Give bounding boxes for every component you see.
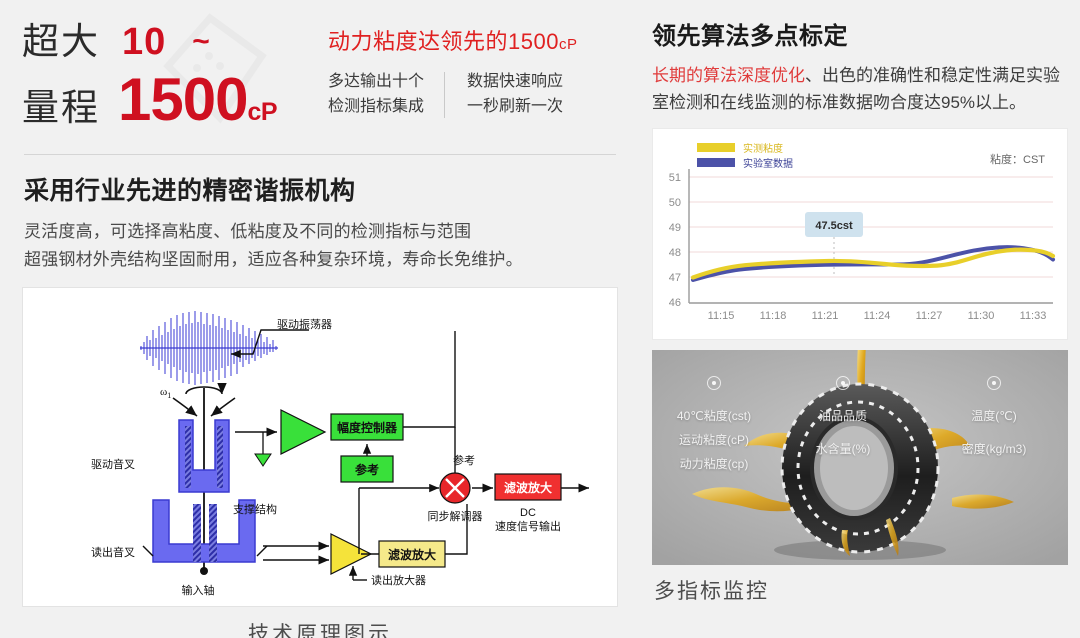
hero-banner: 超大 10 ~ 量程 1500 cP 动力粘度达领先的1500cP [0,0,640,148]
xtick-4: 11:27 [916,310,943,322]
drive-amplifier-icon [281,410,325,454]
dc-label-line1: DC [520,507,536,519]
xtick-6: 11:33 [1020,310,1047,322]
drive-fork-label: 驱动音叉 [91,457,135,471]
hero-headline-unit: cP [559,36,578,53]
waveform-bars [140,311,278,385]
hero-headline-main: 动力粘度达领先的1500 [328,29,559,54]
xtick-2: 11:21 [812,310,839,322]
xtick-0: 11:15 [708,310,735,322]
metric-col1-item2: 动力粘度(cp) [654,452,774,476]
filter-amplifier-red-label: 滤波放大 [504,480,552,495]
metric-col1-item1: 运动粘度(cP) [654,428,774,452]
sync-demodulator-label: 同步解调器 [428,509,483,523]
hero-range-to: 1500 [118,70,247,130]
hero-range-tilde: ~ [192,25,210,59]
page-root: 超大 10 ~ 量程 1500 cP 动力粘度达领先的1500cP [0,0,1080,638]
legend-label-lab: 实验室数据 [743,157,793,170]
hero-feature-2-line2: 一秒刷新一次 [467,95,563,120]
readout-amp-pointer [353,566,367,580]
left-section-body-line2: 超强钢材外壳结构坚固耐用，适应各种复杂环境，寿命长免维护。 [24,246,616,274]
gear-photo-card: 40℃粘度(cst) 运动粘度(cP) 动力粘度(cp) 油品品质 水含量(%)… [652,350,1068,565]
right-body-highlight: 长期的算法深度优化 [652,66,805,85]
right-section-title: 领先算法多点标定 [652,16,1060,51]
sync-demodulator-icon [440,473,470,503]
xtick-5: 11:30 [968,310,995,322]
xtick-3: 11:24 [864,310,891,322]
viscosity-line-chart[interactable]: 51 50 49 48 47 46 11:15 11:18 11:21 11:2… [653,129,1068,340]
chart-y-tick-labels: 51 50 49 48 47 46 [669,172,681,309]
hero-highlight-block: 动力粘度达领先的1500cP 多达输出十个 检测指标集成 数据快速响应 一秒刷新… [312,14,577,120]
input-shaft-label: 输入轴 [182,583,215,597]
support-structure-label-2: 支撑结构 [233,502,277,516]
legend-swatch-measured [697,143,735,152]
drive-oscillator-label: 驱动振荡器 [277,317,332,331]
hero-range-unit: cP [247,98,277,127]
target-dot-icon-3 [987,376,1001,390]
ytick-47: 47 [669,272,681,284]
chart-unit-label: 粘度：CST [990,152,1045,166]
hero-feature-1-line1: 多达输出十个 [328,70,424,95]
filter-amplifier-yellow-label: 滤波放大 [388,547,436,562]
left-section-body: 灵活度高，可选择高粘度、低粘度及不同的检测指标与范围 超强钢材外壳结构坚固耐用，… [24,218,616,273]
amplitude-controller-label: 幅度控制器 [337,420,398,435]
legend-swatch-lab [697,158,735,167]
metric-column-3: 温度(℃) 密度(kg/m3) [934,376,1054,471]
metric-col1-item0: 40℃粘度(cst) [654,404,774,428]
left-column: 超大 10 ~ 量程 1500 cP 动力粘度达领先的1500cP [0,0,640,638]
filter-amplifier-red-box: 滤波放大 [495,474,561,500]
hero-feature-1-line2: 检测指标集成 [328,95,424,120]
hero-headline: 动力粘度达领先的1500cP [328,24,577,56]
technical-diagram-card: ω1 驱动音叉 支撑结构 支撑结构 [22,287,618,607]
chart-x-tick-labels: 11:15 11:18 11:21 11:24 11:27 11:30 11:3… [708,310,1047,322]
metric-col3-item0: 温度(℃) [934,404,1054,428]
hero-range-block: 超大 10 ~ 量程 1500 cP [22,14,312,136]
metric-col3-item1: 密度(kg/m3) [934,428,1054,471]
ytick-48: 48 [669,247,681,259]
readout-wires [263,546,329,560]
omega-label: ω1 [160,386,171,400]
viscosity-chart-card: 51 50 49 48 47 46 11:15 11:18 11:21 11:2… [652,128,1068,340]
right-caption: 多指标监控 [654,575,1080,605]
right-section-body: 长期的算法深度优化、出色的准确性和稳定性满足实验室检测和在线监测的标准数据吻合度… [652,62,1060,116]
hero-feature-2-line1: 数据快速响应 [467,70,563,95]
left-section: 采用行业先进的精密谐振机构 灵活度高，可选择高粘度、低粘度及不同的检测指标与范围… [0,155,640,273]
metric-col2-item0: 油品品质 [783,404,903,428]
reference-path [403,331,455,475]
hero-label-line2: 量程 [22,88,100,128]
readout-fork-label: 读出音叉 [91,545,135,559]
technical-diagram: ω1 驱动音叉 支撑结构 支撑结构 [23,288,618,607]
ytick-51: 51 [669,172,681,184]
shaft-endpoint [200,567,208,575]
metric-col2-item1: 水含量(%) [783,428,903,471]
right-column: 领先算法多点标定 长期的算法深度优化、出色的准确性和稳定性满足实验室检测和在线监… [640,0,1080,638]
left-caption: 技术原理图示 [0,618,640,638]
ground-symbol-icon [255,432,271,466]
hero-feature-2: 数据快速响应 一秒刷新一次 [445,70,563,120]
hero-range-from: 10 [122,21,166,64]
target-dot-icon-2 [836,376,850,390]
ytick-46: 46 [669,297,681,309]
left-section-body-line1: 灵活度高，可选择高粘度、低粘度及不同的检测指标与范围 [24,218,616,246]
ytick-50: 50 [669,197,681,209]
ytick-49: 49 [669,222,681,234]
filter-amplifier-yellow-box: 滤波放大 [379,541,445,567]
metric-column-2: 油品品质 水含量(%) [783,376,903,471]
metric-column-1: 40℃粘度(cst) 运动粘度(cP) 动力粘度(cp) [654,376,774,476]
reference-label: 参考 [453,453,475,467]
target-dot-icon-1 [707,376,721,390]
right-section-header: 领先算法多点标定 长期的算法深度优化、出色的准确性和稳定性满足实验室检测和在线监… [640,0,1080,116]
legend-label-measured: 实测粘度 [743,142,783,155]
chart-series-measured [693,250,1053,278]
reference-box-label: 参考 [355,462,379,477]
readout-amplifier-label: 读出放大器 [371,573,426,587]
dc-label-line2: 速度信号输出 [495,519,561,533]
annotation-tooltip-label: 47.5cst [815,220,853,232]
reference-box: 参考 [341,456,393,482]
amplitude-controller-box: 幅度控制器 [331,414,403,440]
chart-legend[interactable]: 实测粘度 实验室数据 [697,142,793,170]
hero-label-line1: 超大 [22,22,100,62]
hero-feature-1: 多达输出十个 检测指标集成 [328,70,424,120]
left-section-title: 采用行业先进的精密谐振机构 [24,171,616,207]
xtick-1: 11:18 [760,310,787,322]
